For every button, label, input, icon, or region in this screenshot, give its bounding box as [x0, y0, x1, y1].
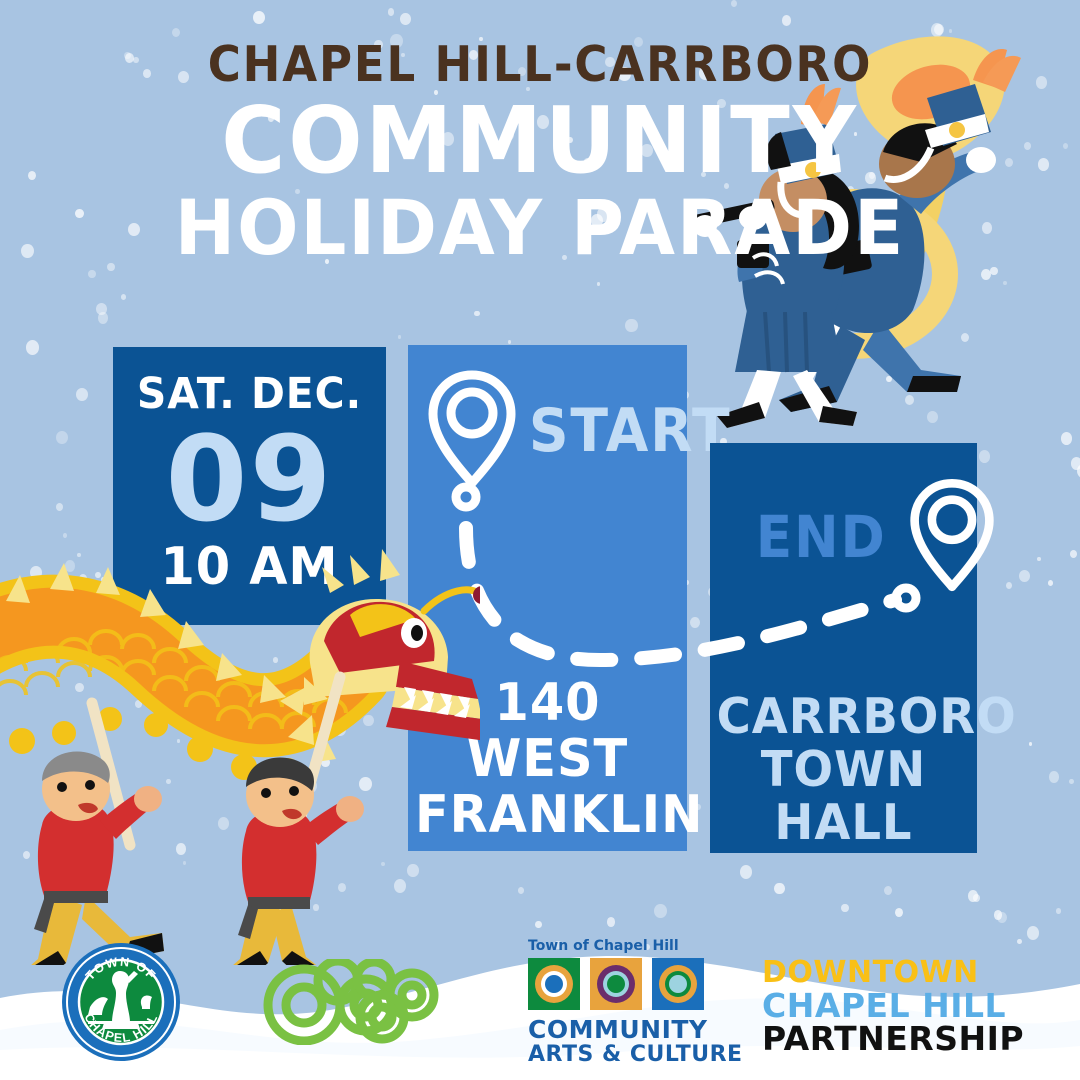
carrboro-logo [262, 959, 462, 1050]
parade-poster: CHAPEL HILL-CARRBORO COMMUNITY HOLIDAY P… [0, 0, 1080, 1080]
dragon-dance-illustration [0, 545, 480, 965]
sponsor-logo-strip: TOWN OF CHAPEL HILL [0, 930, 1080, 1080]
map-pin-icon [906, 475, 998, 599]
main-title-line2: HOLIDAY PARADE [27, 188, 1053, 268]
start-label: START [529, 396, 732, 466]
poster-heading-block: CHAPEL HILL-CARRBORO COMMUNITY HOLIDAY P… [0, 40, 1080, 268]
arts-logo-toptext: Town of Chapel Hill [528, 938, 743, 954]
date-weekday-month: SAT. DEC. [120, 369, 379, 419]
end-address-line1: CARRBORO [717, 691, 971, 744]
end-location-card: END CARRBORO TOWN HALL [710, 443, 977, 853]
arts-logo-marks [528, 956, 706, 1012]
map-pin-icon [424, 367, 520, 495]
dcp-line3: PARTNERSHIP [762, 1022, 1024, 1056]
arts-logo-line1: COMMUNITY [528, 1017, 743, 1043]
community-arts-culture-logo: Town of Chapel Hill COMMUNITY ARTS & CUL… [528, 938, 743, 1066]
town-of-chapel-hill-logo: TOWN OF CHAPEL HILL [60, 941, 182, 1068]
end-label: END [756, 503, 887, 571]
dcp-line1: DOWNTOWN [762, 958, 1024, 989]
main-title-line1: COMMUNITY [27, 95, 1053, 186]
arts-logo-line2: ARTS & CULTURE [528, 1043, 743, 1066]
date-day-number: 09 [113, 423, 386, 535]
dcp-line2: CHAPEL HILL [762, 989, 1024, 1023]
kicker-title: CHAPEL HILL-CARRBORO [43, 40, 1037, 89]
downtown-chapel-hill-partnership-logo: DOWNTOWN CHAPEL HILL PARTNERSHIP [762, 958, 1024, 1056]
end-address-line2: TOWN HALL [717, 744, 971, 850]
